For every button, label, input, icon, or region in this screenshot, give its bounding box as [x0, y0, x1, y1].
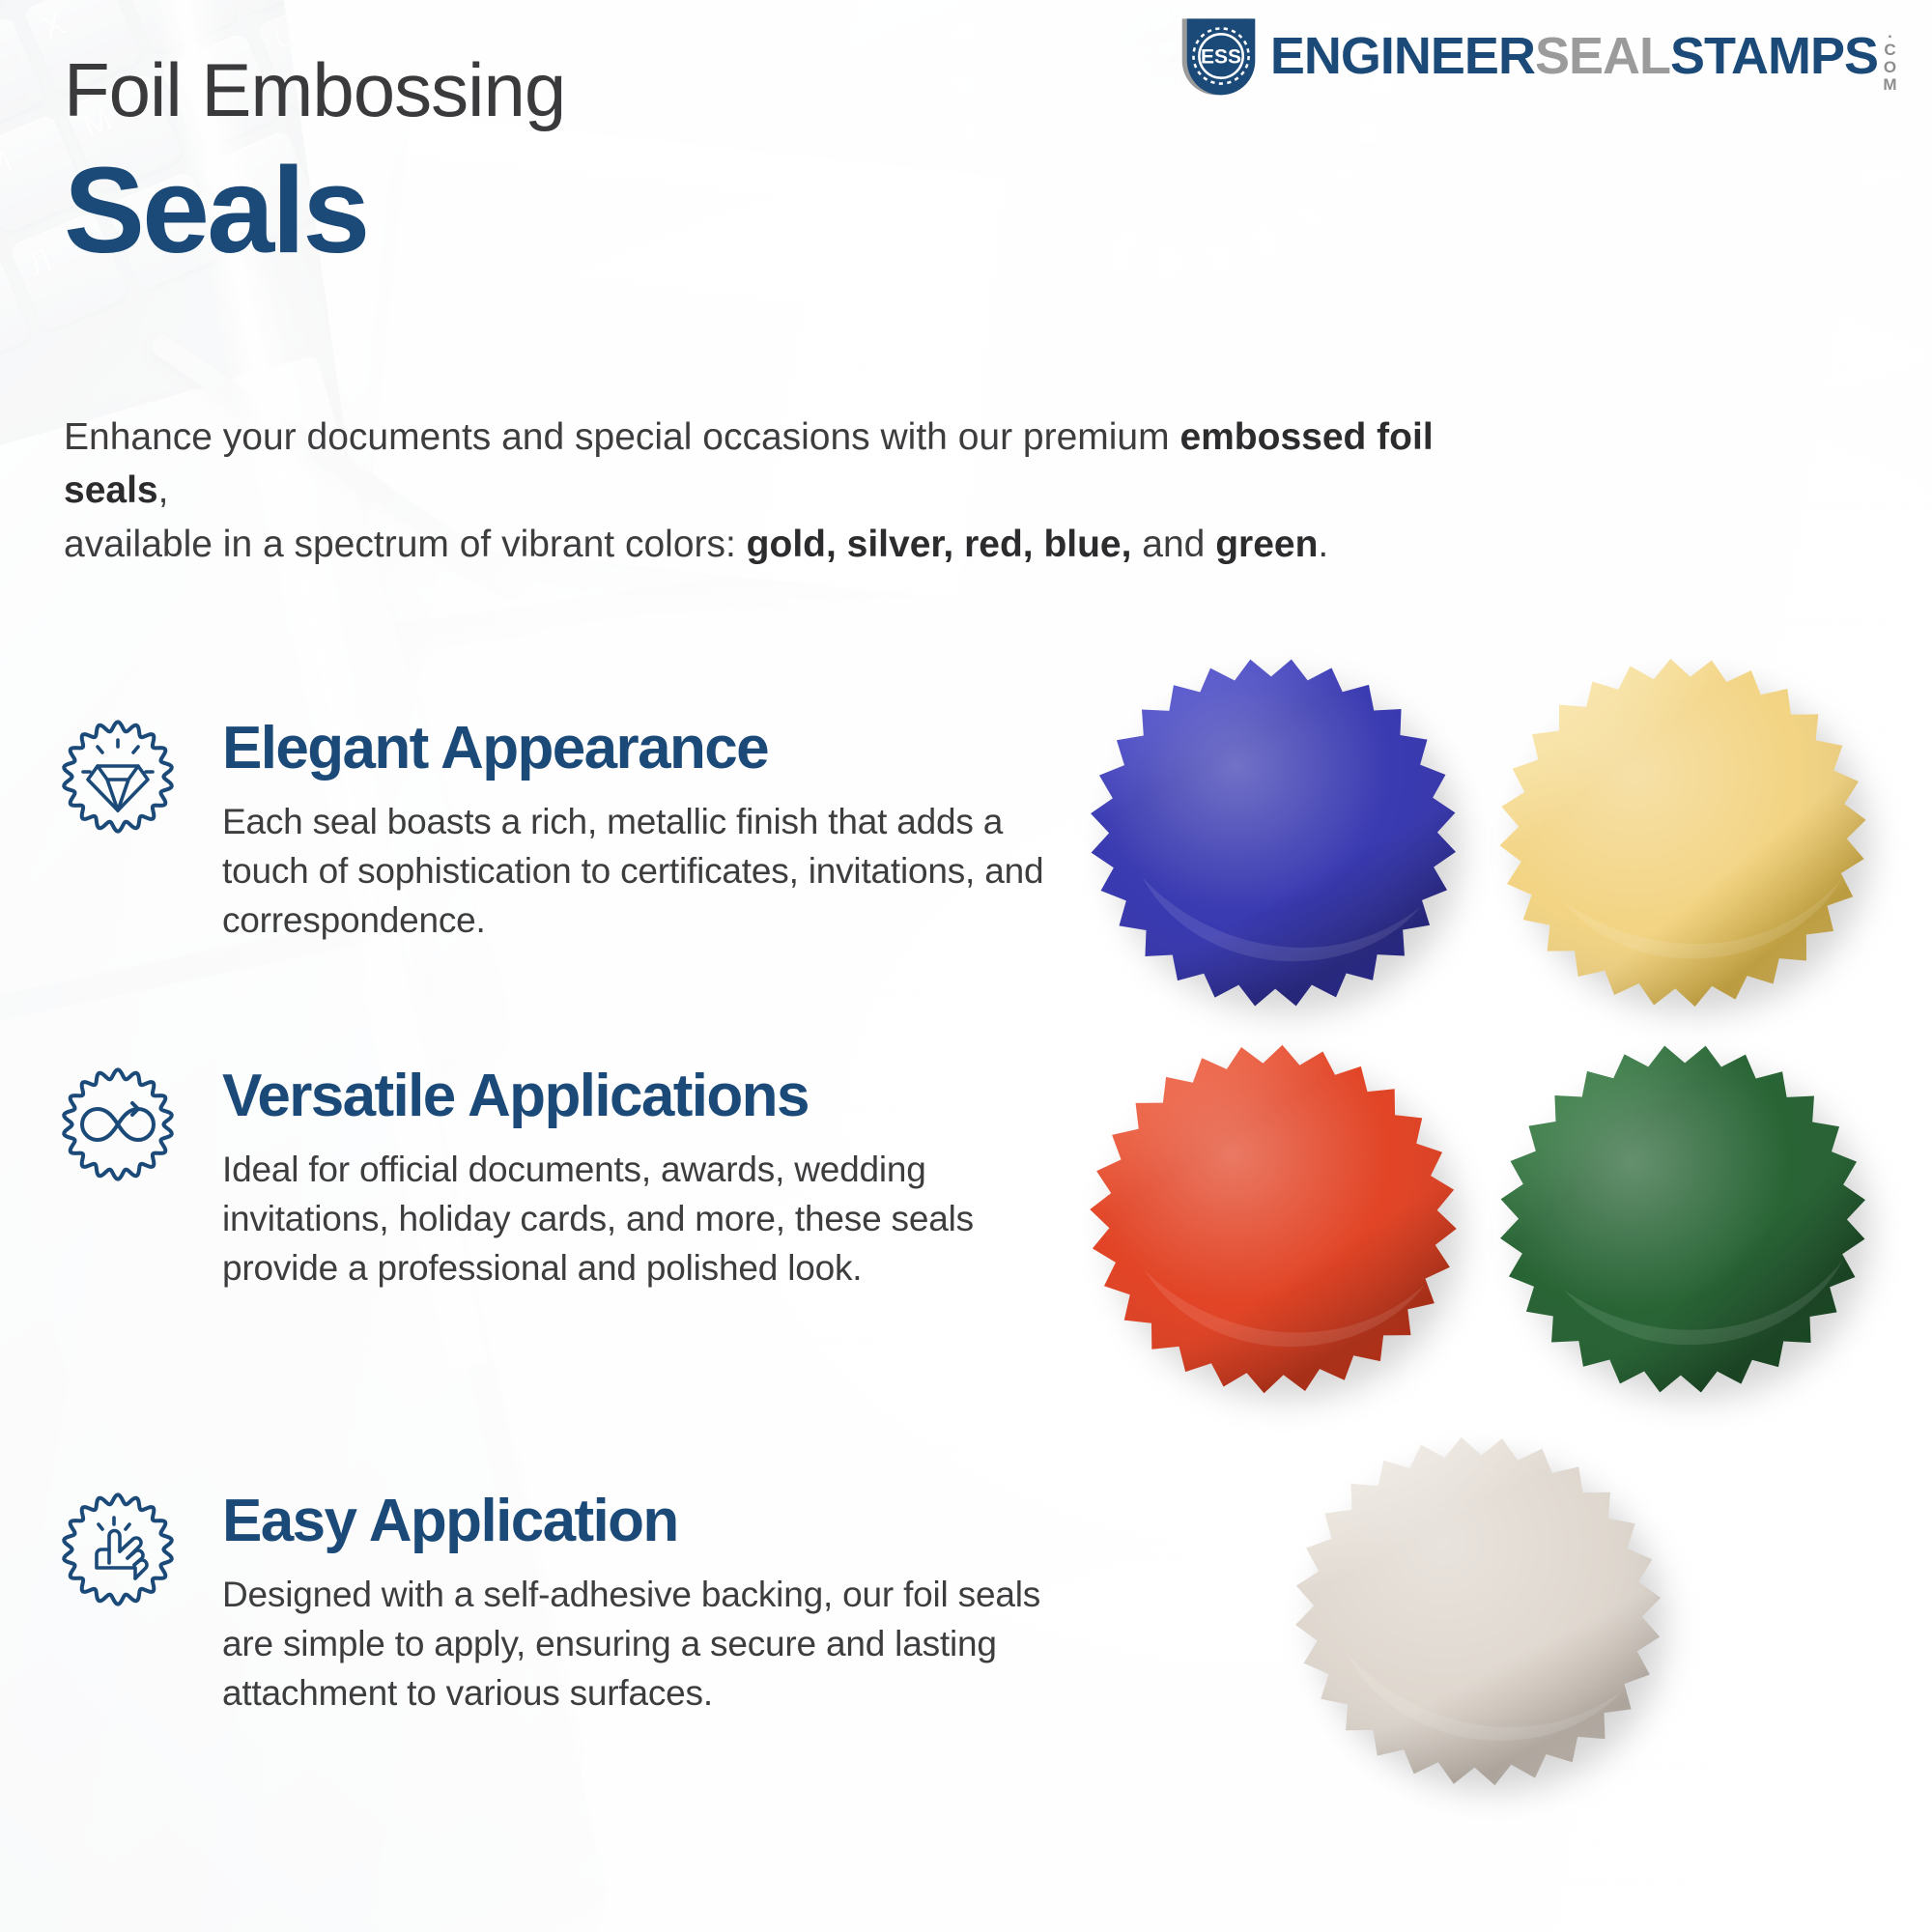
foil-seal-red [1080, 1036, 1466, 1403]
brand-logo[interactable]: ESS ENGINEER SEAL STAMPS .COM [1176, 15, 1899, 97]
intro-line1-a: Enhance your documents and special occas… [64, 416, 1179, 458]
feature-versatile-applications: Versatile Applications Ideal for officia… [58, 1065, 1063, 1293]
seal-shape [1285, 1428, 1671, 1795]
logo-text-engineer: ENGINEER [1270, 26, 1535, 86]
seal-shape [1490, 1036, 1876, 1403]
intro-line2-a: available in a spectrum of vibrant color… [64, 524, 747, 565]
feature-title: Versatile Applications [222, 1065, 1063, 1127]
logo-monogram: ESS [1201, 46, 1241, 69]
feature-title: Elegant Appearance [222, 717, 1063, 780]
feature-text: Designed with a self-adhesive backing, o… [222, 1570, 1063, 1718]
logo-text-seal: SEAL [1535, 26, 1670, 86]
page-kicker: Foil Embossing [64, 46, 565, 134]
feature-title: Easy Application [222, 1490, 1063, 1552]
foil-seal-silver [1285, 1428, 1671, 1795]
intro-paragraph: Enhance your documents and special occas… [64, 411, 1484, 571]
feature-elegant-appearance: Elegant Appearance Each seal boasts a ri… [58, 717, 1063, 945]
intro-highlight-green: green [1215, 524, 1318, 565]
logo-text-stamps: STAMPS [1670, 26, 1878, 86]
feature-text: Each seal boasts a rich, metallic finish… [222, 797, 1063, 945]
foreground-content: ESS ENGINEER SEAL STAMPS .COM Foil Embos… [0, 0, 1932, 1932]
infographic-page: КЛДЖЭНРМЬБЮВИТСПАОЯЧУЦЙФГШЩЗХЪЫЕЁЖЭЮБЬТИ… [0, 0, 1932, 1932]
intro-line2-c: and [1131, 524, 1215, 565]
foil-seal-green [1490, 1036, 1876, 1403]
brand-wordmark: ENGINEER SEAL STAMPS .COM [1270, 19, 1899, 93]
hand-tap-icon [58, 1490, 178, 1609]
seal-shape [1080, 1036, 1466, 1403]
foil-seal-blue [1080, 649, 1466, 1016]
feature-text: Ideal for official documents, awards, we… [222, 1145, 1063, 1293]
diamond-icon [58, 717, 178, 837]
ess-shield-icon: ESS [1176, 15, 1257, 97]
intro-highlight-colors: gold, silver, red, blue, [747, 524, 1132, 565]
infinity-loop-icon [58, 1065, 178, 1184]
feature-easy-application: Easy Application Designed with a self-ad… [58, 1490, 1063, 1718]
page-title: Seals [64, 150, 367, 271]
intro-line2-e: . [1318, 524, 1328, 565]
logo-text-tld: .COM [1880, 23, 1899, 93]
seal-shape [1080, 649, 1466, 1016]
foil-seal-gold [1490, 649, 1876, 1016]
seal-shape [1490, 649, 1876, 1016]
intro-line1-c: , [158, 469, 169, 511]
